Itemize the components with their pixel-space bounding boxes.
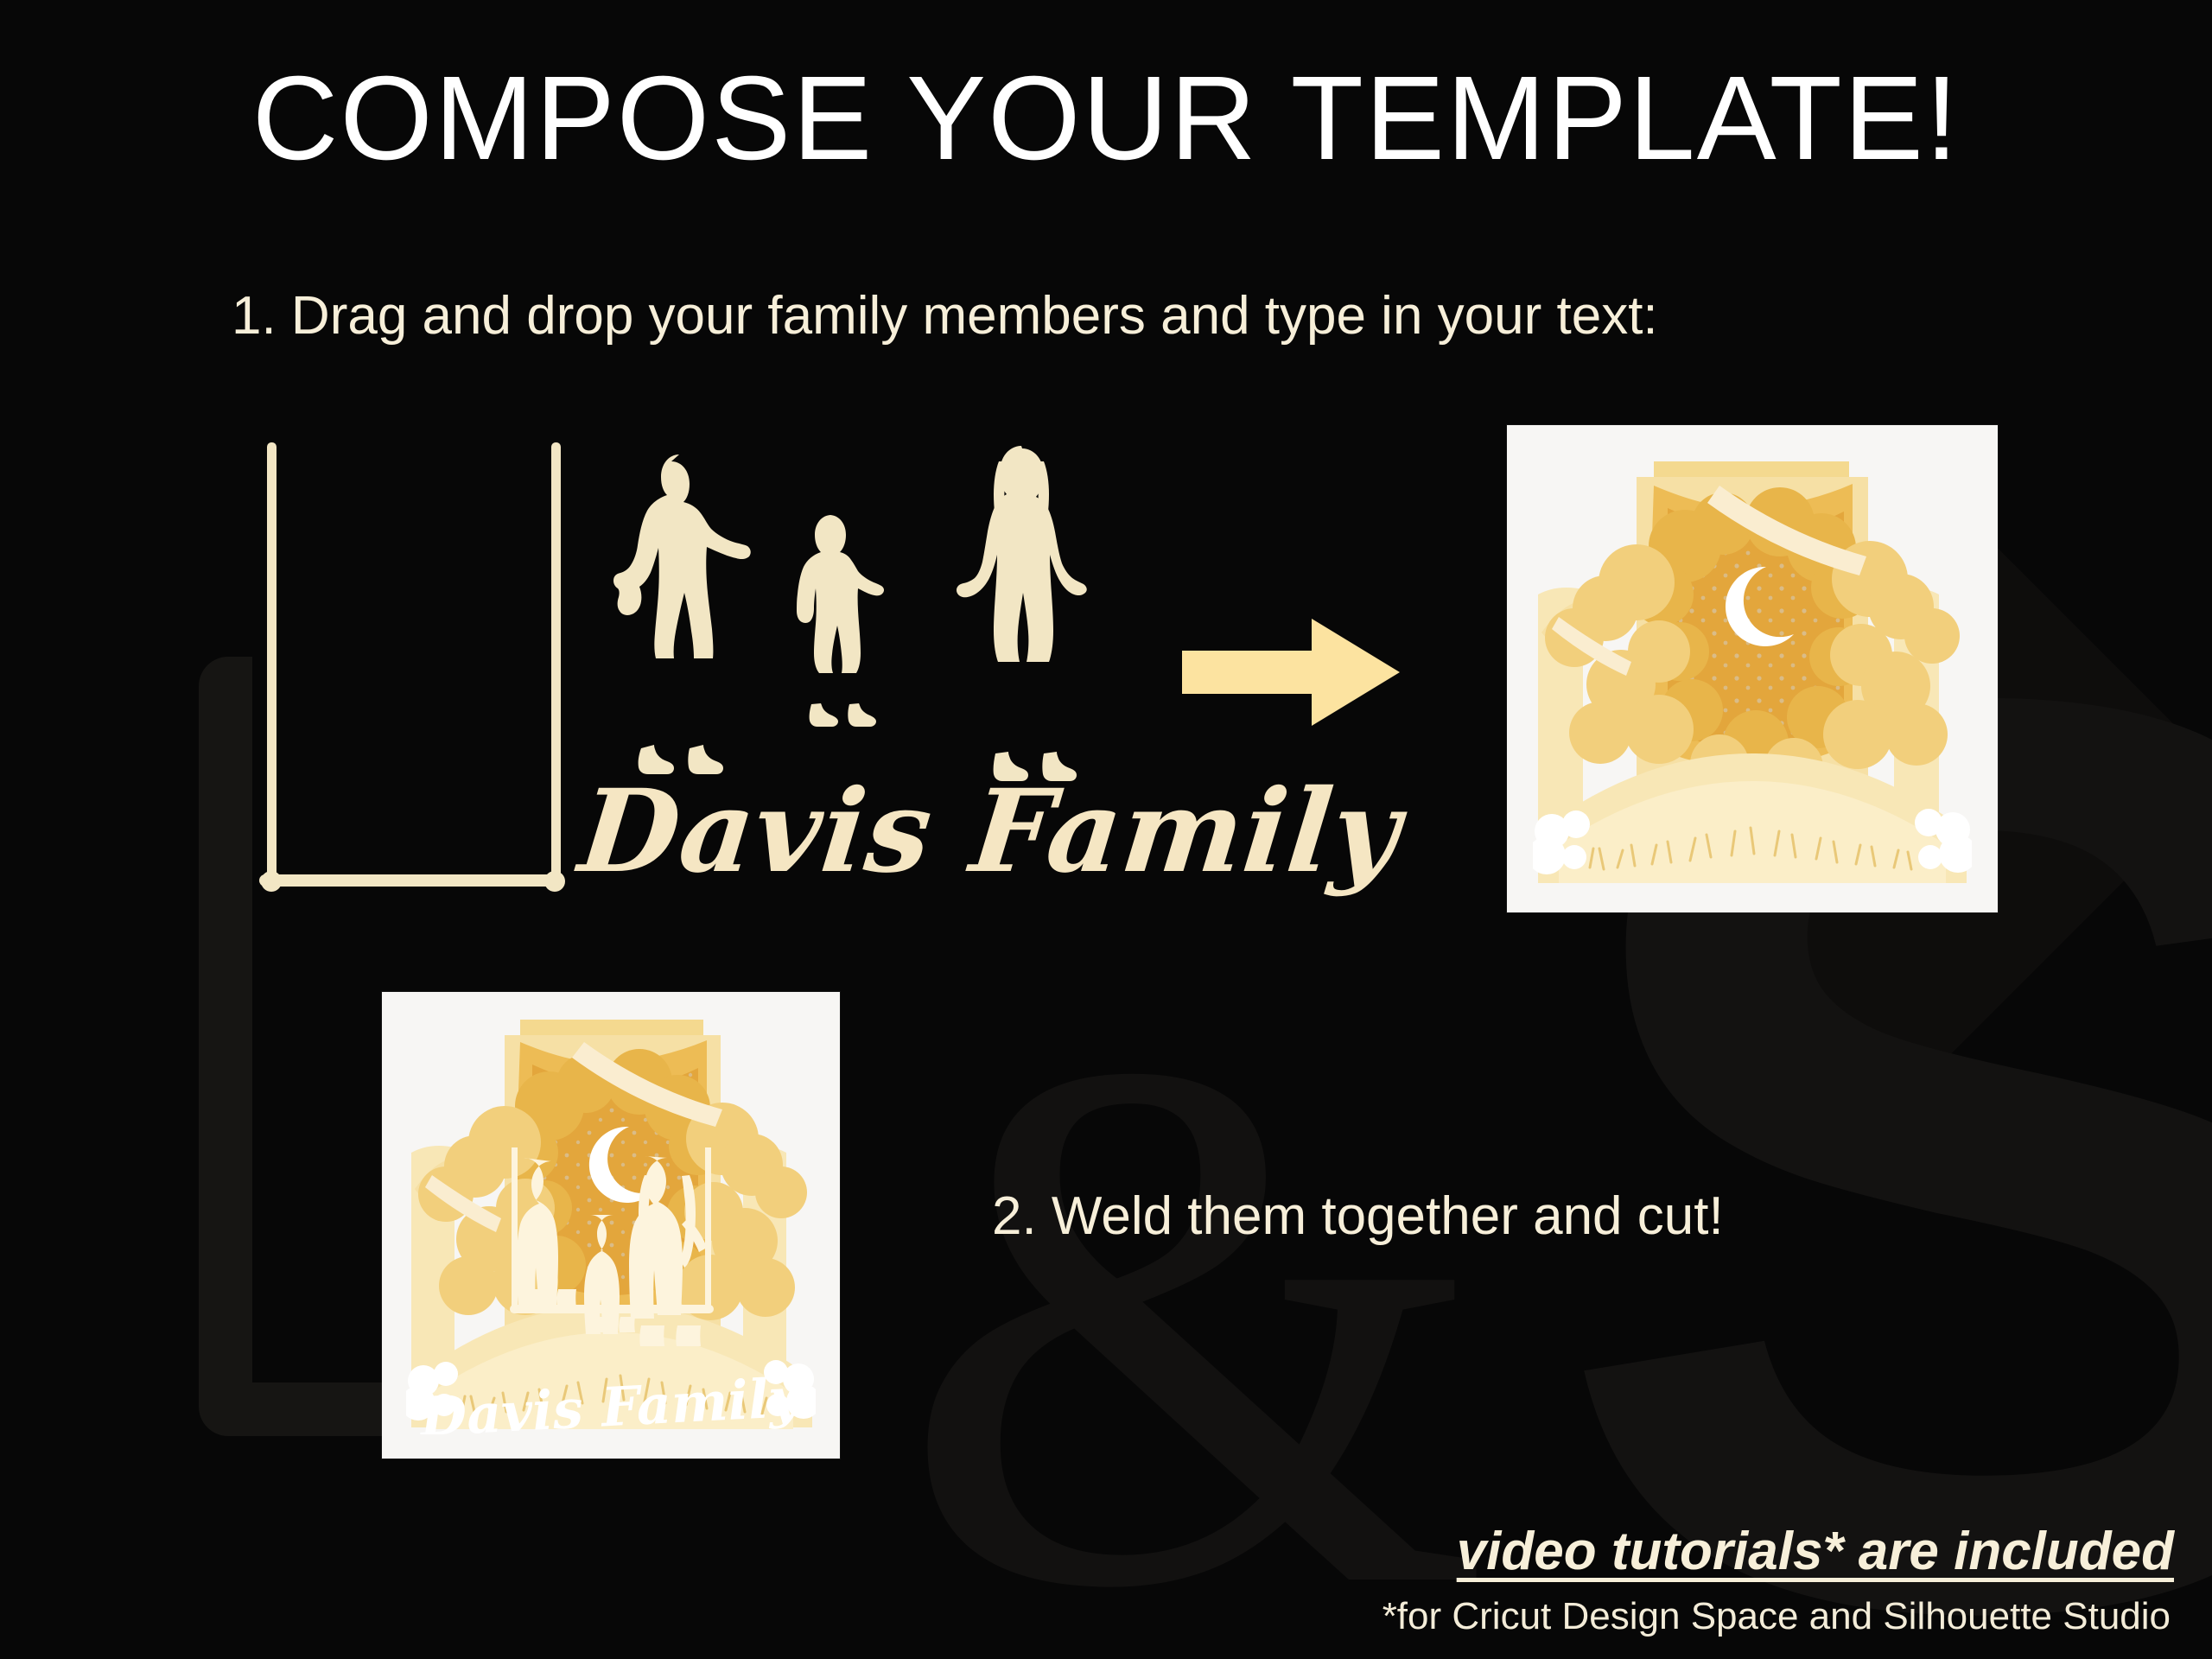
step-1-text: 1. Drag and drop your family members and…	[232, 285, 1658, 346]
swing-rope-right	[551, 442, 561, 881]
family-silhouettes[interactable]	[596, 430, 1149, 802]
paper-art-composed[interactable]: Davis Family	[382, 992, 840, 1459]
watermark-ampersand: &	[899, 1020, 1491, 1628]
swing-knot-left	[261, 871, 282, 892]
right-arrow-icon	[1182, 612, 1400, 733]
swing-knot-right	[544, 871, 565, 892]
tutorials-footnote: *for Cricut Design Space and Silhouette …	[1382, 1595, 2171, 1638]
tutorials-note: video tutorials* are included	[1457, 1521, 2174, 1582]
swing-rope-left	[267, 442, 276, 881]
step-2-text: 2. Weld them together and cut!	[992, 1185, 1724, 1247]
swing-seat	[259, 874, 563, 887]
family-name-text[interactable]: Davis Family	[574, 765, 1407, 899]
swing-outline	[259, 442, 570, 900]
page-title: COMPOSE YOUR TEMPLATE!	[0, 50, 2212, 188]
slide-canvas: S & COMPOSE YOUR TEMPLATE! 1. Drag and d…	[0, 0, 2212, 1659]
paper-art-blank[interactable]	[1507, 425, 1998, 912]
